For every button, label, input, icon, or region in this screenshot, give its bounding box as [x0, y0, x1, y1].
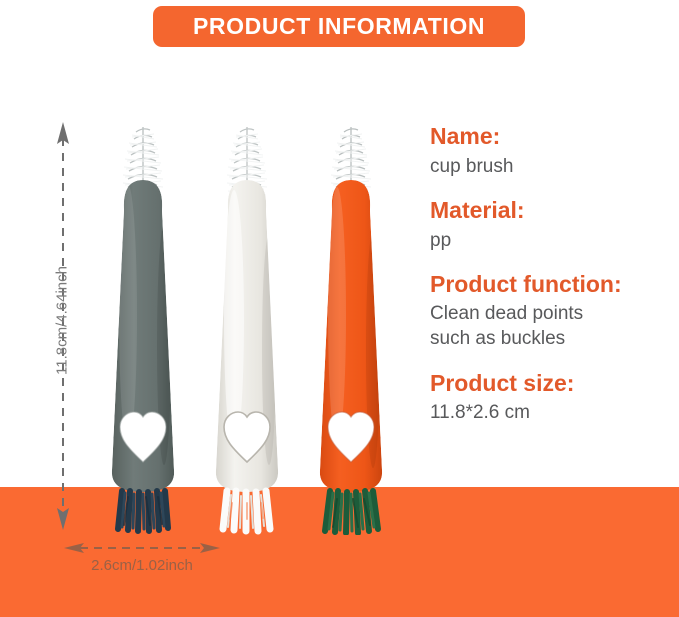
info-value-function: Clean dead points such as buckles: [430, 301, 670, 351]
info-heading-function: Product function:: [430, 270, 670, 299]
info-value-name: cup brush: [430, 154, 670, 179]
info-value-size: 11.8*2.6 cm: [430, 400, 670, 425]
height-dimension-label: 11.8cm/4.64inch: [54, 171, 71, 471]
info-block-function: Product function: Clean dead points such…: [430, 270, 670, 352]
info-block-material: Material: pp: [430, 196, 670, 253]
gray-cup-brush: [98, 115, 188, 535]
info-heading-material: Material:: [430, 196, 670, 225]
width-dimension-label: 2.6cm/1.02inch: [62, 557, 222, 574]
product-image: [90, 115, 400, 535]
info-value-material: pp: [430, 228, 670, 253]
product-info-panel: Name: cup brush Material: pp Product fun…: [430, 122, 670, 442]
header-banner: PRODUCT INFORMATION: [153, 6, 525, 47]
width-arrow-icon: [62, 540, 222, 558]
orange-cup-brush: [306, 115, 396, 535]
info-block-size: Product size: 11.8*2.6 cm: [430, 369, 670, 426]
info-block-name: Name: cup brush: [430, 122, 670, 179]
height-dimension-annotation: 11.8cm/4.64inch: [30, 120, 88, 532]
brush-bristles: [118, 491, 168, 531]
brush-bristles: [325, 491, 378, 533]
page-title: PRODUCT INFORMATION: [193, 13, 485, 40]
width-dimension-annotation: 2.6cm/1.02inch: [62, 540, 222, 580]
brush-bristles: [223, 491, 270, 531]
product-information-page: PRODUCT INFORMATION 11.8cm/4.64inch 2.6c…: [0, 0, 679, 617]
info-heading-size: Product size:: [430, 369, 670, 398]
white-cup-brush: [202, 115, 292, 535]
info-heading-name: Name:: [430, 122, 670, 151]
